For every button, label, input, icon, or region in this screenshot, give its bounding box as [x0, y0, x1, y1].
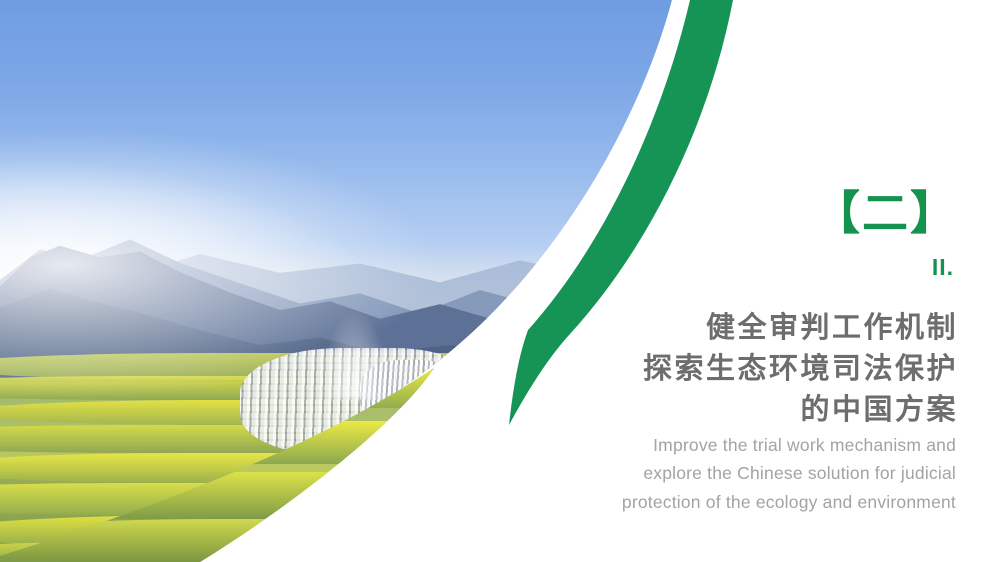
page-title-line-2: 探索生态环境司法保护	[643, 349, 958, 390]
page-title-line-1: 健全审判工作机制	[643, 308, 958, 349]
page-subtitle-line-1: Improve the trial work mechanism and	[622, 431, 956, 459]
sunlight-bloom	[0, 124, 450, 405]
section-roman-numeral: II.	[932, 256, 954, 279]
page-subtitle: Improve the trial work mechanism and exp…	[622, 431, 956, 516]
presentation-slide: 【二】 II. 健全审判工作机制 探索生态环境司法保护 的中国方案 Improv…	[0, 0, 1000, 562]
page-title: 健全审判工作机制 探索生态环境司法保护 的中国方案	[643, 308, 958, 432]
page-subtitle-line-2: explore the Chinese solution for judicia…	[622, 459, 956, 487]
slide-text-block: 【二】 II. 健全审判工作机制 探索生态环境司法保护 的中国方案 Improv…	[478, 0, 958, 562]
page-title-line-3: 的中国方案	[643, 390, 958, 431]
section-number-bracket: 【二】	[814, 190, 958, 236]
page-subtitle-line-3: protection of the ecology and environmen…	[622, 488, 956, 516]
